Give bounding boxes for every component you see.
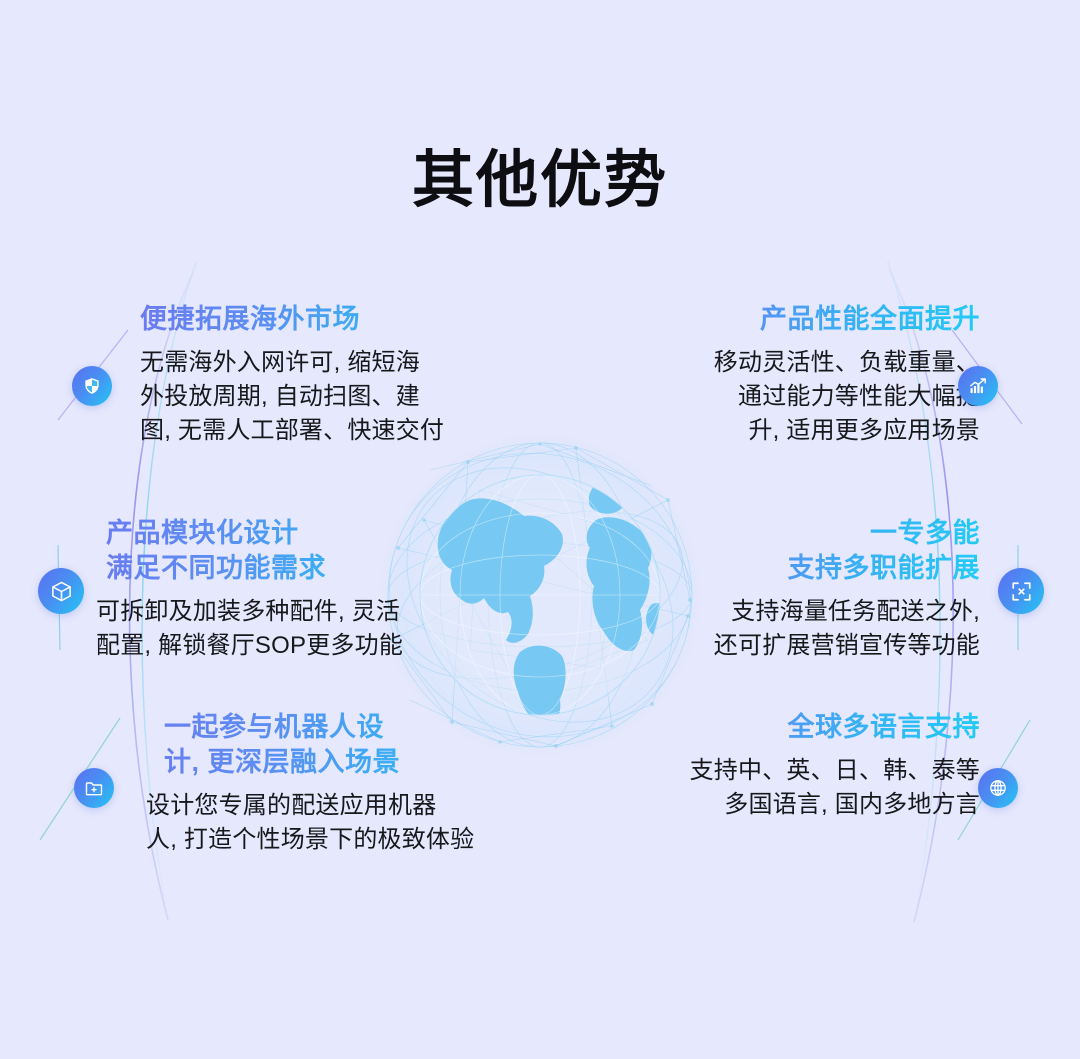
feature-modular: 产品模块化设计 满足不同功能需求 可拆卸及加装多种配件, 灵活 配置, 解锁餐厅…	[96, 516, 466, 663]
feature-multirole: 一专多能 支持多职能扩展 支持海量任务配送之外, 还可扩展营销宣传等功能	[640, 516, 980, 663]
page-title: 其他优势	[0, 146, 1080, 215]
feature-performance: 产品性能全面提升 移动灵活性、负载重量、 通过能力等性能大幅提 升, 适用更多应…	[618, 302, 980, 448]
cube-icon-badge	[38, 568, 84, 614]
feature-modular-body: 可拆卸及加装多种配件, 灵活 配置, 解锁餐厅SOP更多功能	[96, 595, 466, 663]
feature-multirole-body: 支持海量任务配送之外, 还可扩展营销宣传等功能	[640, 595, 980, 663]
globe-icon	[988, 778, 1008, 798]
folder-plus-icon	[84, 778, 104, 798]
chart-growth-icon-badge	[958, 366, 998, 406]
folder-plus-icon-badge	[74, 768, 114, 808]
feature-language: 全球多语言支持 支持中、英、日、韩、泰等 多国语言, 国内多地方言	[628, 710, 980, 822]
cube-icon	[50, 580, 73, 603]
feature-codesign-title: 一起参与机器人设 计, 更深层融入场景	[130, 710, 550, 780]
feature-overseas: 便捷拓展海外市场 无需海外入网许可, 缩短海 外投放周期, 自动扫图、建 图, …	[140, 302, 500, 448]
globe-icon-badge	[978, 768, 1018, 808]
feature-performance-title: 产品性能全面提升	[618, 302, 980, 337]
feature-multirole-title: 一专多能 支持多职能扩展	[640, 516, 980, 586]
shield-icon	[82, 376, 102, 396]
feature-codesign-body: 设计您专属的配送应用机器 人, 打造个性场景下的极致体验	[130, 789, 550, 857]
shield-icon-badge	[72, 366, 112, 406]
chart-growth-icon	[968, 376, 988, 396]
expand-arrows-icon	[1010, 580, 1033, 603]
feature-language-body: 支持中、英、日、韩、泰等 多国语言, 国内多地方言	[628, 754, 980, 822]
infographic-canvas: 其他优势 便捷拓展海外市场 无需海外入网许可, 缩短海 外投放周期, 自动扫图、…	[0, 0, 1080, 1059]
feature-overseas-body: 无需海外入网许可, 缩短海 外投放周期, 自动扫图、建 图, 无需人工部署、快速…	[140, 346, 500, 448]
feature-modular-title: 产品模块化设计 满足不同功能需求	[96, 516, 466, 586]
feature-codesign: 一起参与机器人设 计, 更深层融入场景 设计您专属的配送应用机器 人, 打造个性…	[130, 710, 550, 857]
feature-language-title: 全球多语言支持	[628, 710, 980, 745]
feature-overseas-title: 便捷拓展海外市场	[140, 302, 500, 337]
expand-arrows-icon-badge	[998, 568, 1044, 614]
feature-performance-body: 移动灵活性、负载重量、 通过能力等性能大幅提 升, 适用更多应用场景	[618, 346, 980, 448]
